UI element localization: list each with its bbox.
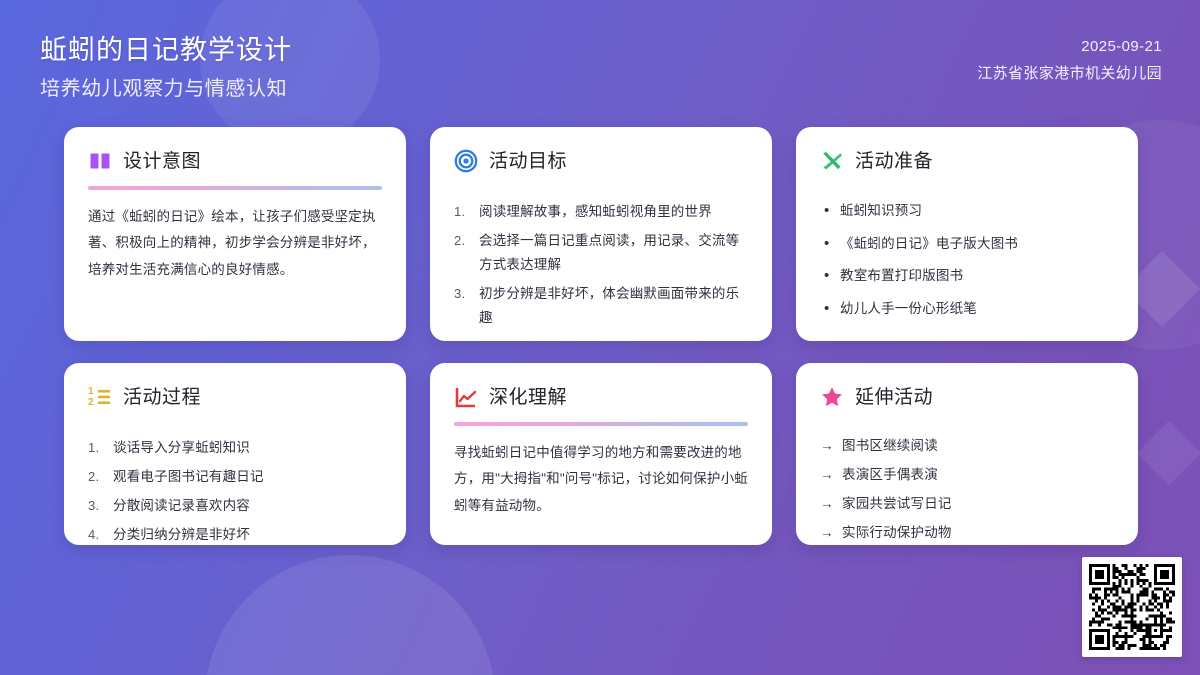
card-activity-goals[interactable]: 活动目标阅读理解故事，感知蚯蚓视角里的世界会选择一篇日记重点阅读，用记录、交流等…	[430, 127, 772, 341]
card-title: 深化理解	[489, 388, 567, 407]
list-item: 观看电子图书记有趣日记	[88, 465, 382, 489]
card-list: 蚯蚓知识预习《蚯蚓的日记》电子版大图书教室布置打印版图书幼儿人手一份心形纸笔	[820, 200, 1114, 319]
card-divider	[88, 186, 382, 190]
open-book-icon	[88, 149, 112, 173]
list-item: 家园共尝试写日记	[820, 494, 1114, 515]
card-body: 图书区继续阅读表演区手偶表演家园共尝试写日记实际行动保护动物	[820, 436, 1114, 545]
qr-code-canvas	[1089, 564, 1175, 650]
card-divider	[454, 422, 748, 426]
header-left: 蚯蚓的日记教学设计 培养幼儿观察力与情感认知	[40, 34, 292, 102]
card-list: 阅读理解故事，感知蚯蚓视角里的世界会选择一篇日记重点阅读，用记录、交流等方式表达…	[454, 200, 748, 330]
card-header: 设计意图	[88, 149, 382, 173]
card-activity-process[interactable]: 12活动过程谈话导入分享蚯蚓知识观看电子图书记有趣日记分散阅读记录喜欢内容分类归…	[64, 363, 406, 545]
numbered-list-icon: 12	[88, 385, 112, 409]
line-chart-icon	[454, 385, 478, 409]
card-paragraph: 通过《蚯蚓的日记》绘本，让孩子们感受坚定执著、积极向上的精神，初步学会分辨是非好…	[88, 204, 382, 283]
page-title: 蚯蚓的日记教学设计	[40, 34, 292, 68]
card-header: 12活动过程	[88, 385, 382, 409]
list-item: 教室布置打印版图书	[820, 265, 1114, 287]
list-item: 图书区继续阅读	[820, 436, 1114, 457]
card-body: 阅读理解故事，感知蚯蚓视角里的世界会选择一篇日记重点阅读，用记录、交流等方式表达…	[454, 200, 748, 335]
slide-header: 蚯蚓的日记教学设计 培养幼儿观察力与情感认知 2025-09-21 江苏省张家港…	[0, 0, 1200, 118]
star-icon	[820, 385, 844, 409]
card-header: 延伸活动	[820, 385, 1114, 409]
list-item: 分类归纳分辨是非好坏	[88, 523, 382, 545]
card-body: 寻找蚯蚓日记中值得学习的地方和需要改进的地方，用"大拇指"和"问号"标记，讨论如…	[454, 440, 748, 519]
card-paragraph: 寻找蚯蚓日记中值得学习的地方和需要改进的地方，用"大拇指"和"问号"标记，讨论如…	[454, 440, 748, 519]
header-date: 2025-09-21	[1081, 38, 1162, 55]
qr-code[interactable]	[1082, 557, 1182, 657]
decorative-diamond-right-lower	[1136, 420, 1200, 485]
card-body: 通过《蚯蚓的日记》绘本，让孩子们感受坚定执著、积极向上的精神，初步学会分辨是非好…	[88, 204, 382, 283]
card-title: 延伸活动	[855, 388, 933, 407]
list-item: 实际行动保护动物	[820, 523, 1114, 544]
card-header: 活动目标	[454, 149, 748, 173]
card-title: 设计意图	[123, 152, 201, 171]
card-activity-preparation[interactable]: 活动准备蚯蚓知识预习《蚯蚓的日记》电子版大图书教室布置打印版图书幼儿人手一份心形…	[796, 127, 1138, 341]
card-extension-activities[interactable]: 延伸活动图书区继续阅读表演区手偶表演家园共尝试写日记实际行动保护动物	[796, 363, 1138, 545]
list-item: 阅读理解故事，感知蚯蚓视角里的世界	[454, 200, 748, 224]
card-title: 活动过程	[123, 388, 201, 407]
list-item: 《蚯蚓的日记》电子版大图书	[820, 233, 1114, 255]
card-body: 谈话导入分享蚯蚓知识观看电子图书记有趣日记分散阅读记录喜欢内容分类归纳分辨是非好…	[88, 436, 382, 545]
card-body: 蚯蚓知识预习《蚯蚓的日记》电子版大图书教室布置打印版图书幼儿人手一份心形纸笔	[820, 200, 1114, 330]
decorative-circle-bottom	[205, 555, 495, 675]
svg-text:2: 2	[88, 397, 94, 408]
slide-root: 蚯蚓的日记教学设计 培养幼儿观察力与情感认知 2025-09-21 江苏省张家港…	[0, 0, 1200, 675]
card-design-intent[interactable]: 设计意图通过《蚯蚓的日记》绘本，让孩子们感受坚定执著、积极向上的精神，初步学会分…	[64, 127, 406, 341]
list-item: 谈话导入分享蚯蚓知识	[88, 436, 382, 460]
list-item: 幼儿人手一份心形纸笔	[820, 298, 1114, 320]
card-header: 活动准备	[820, 149, 1114, 173]
list-item: 初步分辨是非好坏，体会幽默画面带来的乐趣	[454, 282, 748, 330]
card-title: 活动准备	[855, 152, 933, 171]
page-subtitle: 培养幼儿观察力与情感认知	[40, 77, 292, 102]
header-organization: 江苏省张家港市机关幼儿园	[977, 62, 1162, 83]
card-deepen-understanding[interactable]: 深化理解寻找蚯蚓日记中值得学习的地方和需要改进的地方，用"大拇指"和"问号"标记…	[430, 363, 772, 545]
header-right: 2025-09-21 江苏省张家港市机关幼儿园	[977, 34, 1162, 83]
target-icon	[454, 149, 478, 173]
card-header: 深化理解	[454, 385, 748, 409]
list-item: 蚯蚓知识预习	[820, 200, 1114, 222]
svg-text:1: 1	[88, 386, 94, 397]
tools-icon	[820, 149, 844, 173]
list-item: 分散阅读记录喜欢内容	[88, 494, 382, 518]
card-grid: 设计意图通过《蚯蚓的日记》绘本，让孩子们感受坚定执著、积极向上的精神，初步学会分…	[64, 127, 1138, 545]
card-list: 谈话导入分享蚯蚓知识观看电子图书记有趣日记分散阅读记录喜欢内容分类归纳分辨是非好…	[88, 436, 382, 545]
card-list: 图书区继续阅读表演区手偶表演家园共尝试写日记实际行动保护动物	[820, 436, 1114, 544]
list-item: 表演区手偶表演	[820, 465, 1114, 486]
card-title: 活动目标	[489, 152, 567, 171]
list-item: 会选择一篇日记重点阅读，用记录、交流等方式表达理解	[454, 229, 748, 277]
